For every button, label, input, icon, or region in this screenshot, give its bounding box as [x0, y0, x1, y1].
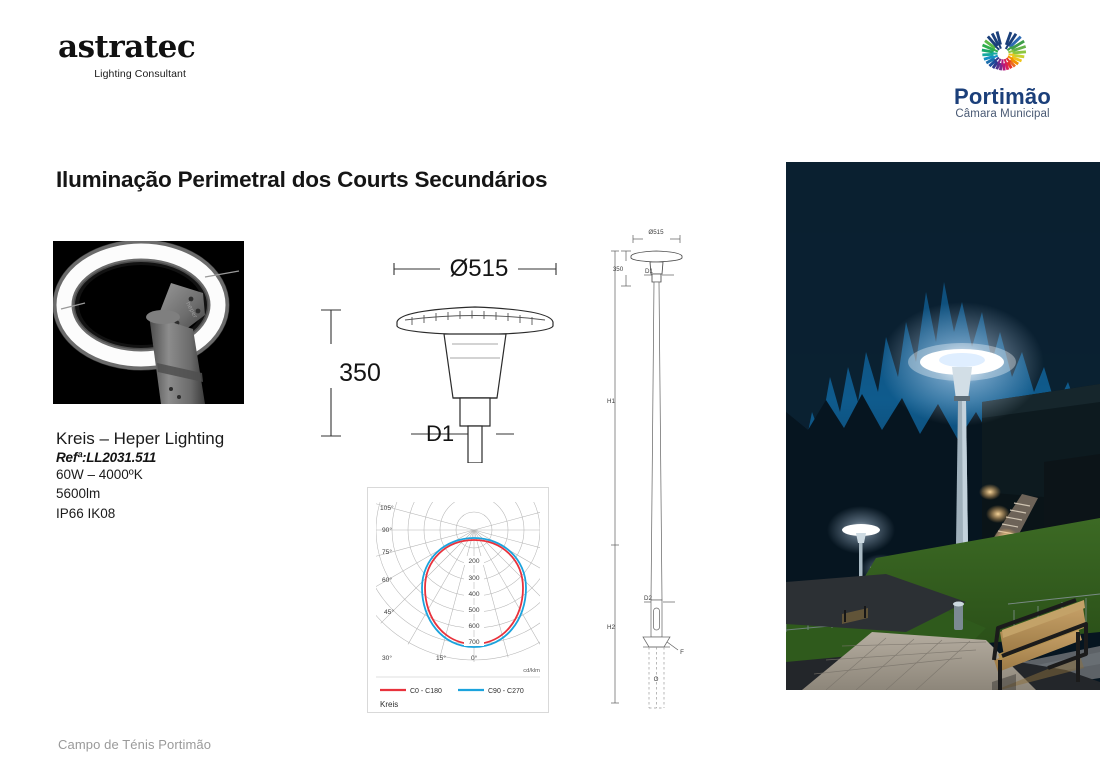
pole-flange-label: F	[680, 649, 684, 656]
angle-tick-0: 0°	[471, 654, 478, 662]
product-reference: Refª:LL2031.511	[56, 450, 316, 465]
portimao-logo: Portimão Câmara Municipal	[905, 22, 1100, 120]
radial-tick-600: 600	[468, 623, 479, 630]
angle-tick-90: 90°	[382, 526, 392, 534]
pole-h1-label: H1	[607, 398, 615, 405]
legend-label-c0: C0 - C180	[410, 688, 442, 695]
product-specs: Kreis – Heper Lighting Refª:LL2031.511 6…	[56, 428, 316, 523]
pole-drawing-svg: Ø515 350 D1 H1 H2 D2 F O	[600, 225, 725, 720]
angle-tick-45: 45°	[384, 608, 394, 616]
page-title: Iluminação Perimetral dos Courts Secundá…	[56, 167, 547, 193]
photometric-polar-diagram: 105° 90° 75° 60° 45° 30° 15° 0° 200 30	[367, 487, 549, 713]
product-lumens: 5600lm	[56, 484, 316, 503]
diameter-label: Ø515	[450, 255, 509, 282]
pole-d1-label: D1	[645, 268, 653, 275]
brand-tagline: Lighting Consultant	[58, 68, 186, 80]
night-photo-svg	[786, 162, 1100, 690]
angle-tick-30: 30°	[382, 654, 392, 662]
pole-diameter-label: Ø515	[648, 229, 664, 236]
product-protection: IP66 IK08	[56, 504, 316, 523]
polar-chart-svg: 105° 90° 75° 60° 45° 30° 15° 0° 200 30	[368, 488, 548, 712]
legend-label-c90: C90 - C270	[488, 688, 524, 695]
luminaire-ring-photo-icon: heper	[53, 241, 244, 404]
municipality-name: Portimão	[905, 85, 1100, 108]
astratec-logo: astratec Lighting Consultant	[58, 32, 298, 80]
radial-tick-300: 300	[468, 575, 479, 582]
installation-night-photo	[786, 162, 1100, 690]
product-power-cct: 60W – 4000ºK	[56, 465, 316, 484]
product-photo: heper	[53, 241, 244, 404]
height-label: 350	[339, 359, 381, 387]
pole-luminaire-height-label: 350	[613, 266, 624, 273]
portimao-circle-logo-icon	[959, 22, 1047, 84]
luminaire-dimension-drawing: Ø515 350 D1	[300, 238, 600, 463]
pole-dimension-drawing: Ø515 350 D1 H1 H2 D2 F O	[600, 225, 725, 720]
radial-tick-700: 700	[468, 639, 479, 646]
product-name: Kreis – Heper Lighting	[56, 428, 316, 449]
radial-tick-500: 500	[468, 607, 479, 614]
radial-tick-400: 400	[468, 591, 479, 598]
municipality-subtitle: Câmara Municipal	[905, 108, 1100, 120]
angle-tick-60: 60°	[382, 576, 392, 584]
chart-unit-label: cd/klm	[523, 668, 540, 674]
luminaire-drawing-svg: Ø515 350 D1	[300, 238, 600, 463]
footer-caption: Campo de Ténis Portimão	[58, 737, 211, 752]
angle-tick-105: 105°	[380, 504, 394, 512]
pole-d2-label: D2	[644, 595, 652, 602]
slide-page: astratec Lighting Consultant	[0, 0, 1100, 777]
chart-title: Kreis	[380, 700, 398, 709]
angle-tick-75: 75°	[382, 548, 392, 556]
angle-tick-15: 15°	[436, 654, 446, 662]
d1-label: D1	[426, 421, 454, 446]
pole-foundation-label: O	[654, 676, 659, 683]
radial-tick-200: 200	[468, 558, 479, 565]
brand-name: astratec	[58, 32, 298, 63]
pole-h2-label: H2	[607, 624, 615, 631]
